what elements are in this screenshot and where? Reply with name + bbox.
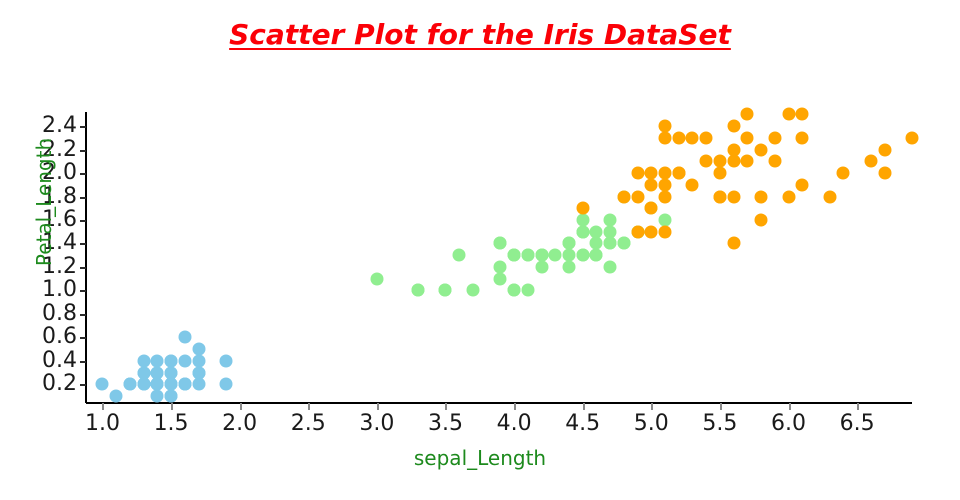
x-tick-mark xyxy=(445,403,447,410)
y-tick-label: 0.4 xyxy=(42,350,77,372)
x-tick-label: 4.5 xyxy=(565,413,600,435)
data-point-virginica xyxy=(713,190,726,203)
x-tick-mark xyxy=(514,403,516,410)
data-point-setosa xyxy=(123,378,136,391)
data-point-versicolor xyxy=(494,237,507,250)
data-point-versicolor xyxy=(604,237,617,250)
data-point-virginica xyxy=(906,131,919,144)
data-point-setosa xyxy=(192,378,205,391)
y-tick-mark xyxy=(80,290,86,292)
data-point-virginica xyxy=(727,143,740,156)
data-point-virginica xyxy=(864,155,877,168)
data-point-virginica xyxy=(755,214,768,227)
data-point-virginica xyxy=(686,131,699,144)
x-tick-mark xyxy=(240,403,242,410)
x-tick-label: 5.0 xyxy=(634,413,669,435)
data-point-virginica xyxy=(727,155,740,168)
x-axis-label: sepal_Length xyxy=(0,446,960,470)
data-point-virginica xyxy=(741,108,754,121)
data-point-versicolor xyxy=(494,260,507,273)
y-tick-mark xyxy=(80,314,86,316)
x-tick-label: 4.0 xyxy=(497,413,532,435)
x-tick-label: 6.5 xyxy=(840,413,875,435)
data-point-setosa xyxy=(219,378,232,391)
data-point-virginica xyxy=(823,190,836,203)
data-point-virginica xyxy=(878,143,891,156)
data-point-virginica xyxy=(727,190,740,203)
data-point-virginica xyxy=(645,178,658,191)
x-tick-mark xyxy=(583,403,585,410)
data-point-virginica xyxy=(727,120,740,133)
data-point-virginica xyxy=(659,131,672,144)
y-tick-mark xyxy=(80,173,86,175)
data-point-versicolor xyxy=(439,284,452,297)
data-point-virginica xyxy=(700,155,713,168)
data-point-setosa xyxy=(178,378,191,391)
data-point-versicolor xyxy=(521,284,534,297)
data-point-versicolor xyxy=(466,284,479,297)
x-tick-label: 3.0 xyxy=(359,413,394,435)
data-point-virginica xyxy=(768,155,781,168)
data-point-versicolor xyxy=(412,284,425,297)
x-tick-mark xyxy=(377,403,379,410)
data-point-virginica xyxy=(686,178,699,191)
data-point-versicolor xyxy=(370,272,383,285)
data-point-setosa xyxy=(165,390,178,403)
x-axis-ticks: 1.01.52.02.53.03.54.04.55.05.56.06.5 xyxy=(86,404,912,444)
data-point-versicolor xyxy=(453,249,466,262)
data-point-setosa xyxy=(151,378,164,391)
y-tick-mark xyxy=(80,337,86,339)
data-point-virginica xyxy=(645,202,658,215)
x-tick-mark xyxy=(171,403,173,410)
y-tick-mark xyxy=(80,361,86,363)
data-point-versicolor xyxy=(549,249,562,262)
data-point-virginica xyxy=(878,167,891,180)
data-point-setosa xyxy=(219,354,232,367)
data-point-virginica xyxy=(672,167,685,180)
data-point-versicolor xyxy=(590,225,603,238)
x-tick-label: 5.5 xyxy=(702,413,737,435)
y-tick-mark xyxy=(80,267,86,269)
data-point-virginica xyxy=(755,143,768,156)
data-point-versicolor xyxy=(508,249,521,262)
y-tick-mark xyxy=(80,197,86,199)
x-tick-mark xyxy=(720,403,722,410)
data-point-virginica xyxy=(782,190,795,203)
y-tick-mark xyxy=(80,150,86,152)
y-tick-mark xyxy=(80,126,86,128)
data-point-virginica xyxy=(755,190,768,203)
data-point-versicolor xyxy=(535,249,548,262)
data-point-virginica xyxy=(713,167,726,180)
y-tick-mark xyxy=(80,220,86,222)
data-point-virginica xyxy=(576,202,589,215)
data-point-setosa xyxy=(165,378,178,391)
data-point-virginica xyxy=(631,225,644,238)
x-tick-label: 6.0 xyxy=(771,413,806,435)
data-point-virginica xyxy=(645,167,658,180)
data-point-virginica xyxy=(631,190,644,203)
data-point-setosa xyxy=(178,331,191,344)
data-point-virginica xyxy=(659,178,672,191)
data-point-virginica xyxy=(727,237,740,250)
x-tick-mark xyxy=(102,403,104,410)
data-point-virginica xyxy=(837,167,850,180)
page-title: Scatter Plot for the Iris DataSet xyxy=(0,18,960,51)
data-point-setosa xyxy=(110,390,123,403)
data-point-virginica xyxy=(741,155,754,168)
data-point-versicolor xyxy=(562,237,575,250)
plot-area: 0.20.40.60.81.01.21.41.61.82.02.22.4 xyxy=(86,112,912,402)
data-point-versicolor xyxy=(535,260,548,273)
data-point-versicolor xyxy=(562,249,575,262)
data-point-virginica xyxy=(645,225,658,238)
data-point-versicolor xyxy=(562,260,575,273)
data-point-setosa xyxy=(96,378,109,391)
y-tick-mark xyxy=(80,243,86,245)
y-tick-label: 0.2 xyxy=(42,373,77,395)
data-point-virginica xyxy=(768,131,781,144)
data-point-virginica xyxy=(659,167,672,180)
x-tick-label: 2.0 xyxy=(222,413,257,435)
data-point-virginica xyxy=(659,190,672,203)
data-point-versicolor xyxy=(604,225,617,238)
data-point-versicolor xyxy=(604,260,617,273)
x-tick-label: 2.5 xyxy=(291,413,326,435)
data-point-virginica xyxy=(631,167,644,180)
x-tick-mark xyxy=(789,403,791,410)
x-tick-mark xyxy=(857,403,859,410)
data-point-versicolor xyxy=(508,284,521,297)
data-point-virginica xyxy=(617,190,630,203)
x-tick-mark xyxy=(308,403,310,410)
data-point-setosa xyxy=(151,390,164,403)
data-point-virginica xyxy=(659,225,672,238)
data-point-versicolor xyxy=(494,272,507,285)
scatter-plot-figure: Scatter Plot for the Iris DataSet 0.20.4… xyxy=(0,0,960,500)
x-tick-label: 1.0 xyxy=(85,413,120,435)
data-point-versicolor xyxy=(617,237,630,250)
data-point-setosa xyxy=(192,343,205,356)
y-axis-label: Petal_Length xyxy=(32,72,56,332)
data-point-setosa xyxy=(178,354,191,367)
data-point-virginica xyxy=(782,108,795,121)
y-tick-mark xyxy=(80,384,86,386)
data-point-virginica xyxy=(672,131,685,144)
data-point-virginica xyxy=(796,178,809,191)
x-tick-label: 1.5 xyxy=(154,413,189,435)
data-point-setosa xyxy=(137,378,150,391)
data-point-virginica xyxy=(700,131,713,144)
data-point-versicolor xyxy=(590,249,603,262)
data-point-setosa xyxy=(192,366,205,379)
data-point-virginica xyxy=(659,120,672,133)
data-point-virginica xyxy=(796,108,809,121)
data-point-virginica xyxy=(796,131,809,144)
data-point-virginica xyxy=(741,131,754,144)
data-point-versicolor xyxy=(576,249,589,262)
data-point-versicolor xyxy=(521,249,534,262)
x-tick-mark xyxy=(651,403,653,410)
data-point-versicolor xyxy=(576,225,589,238)
x-tick-label: 3.5 xyxy=(428,413,463,435)
